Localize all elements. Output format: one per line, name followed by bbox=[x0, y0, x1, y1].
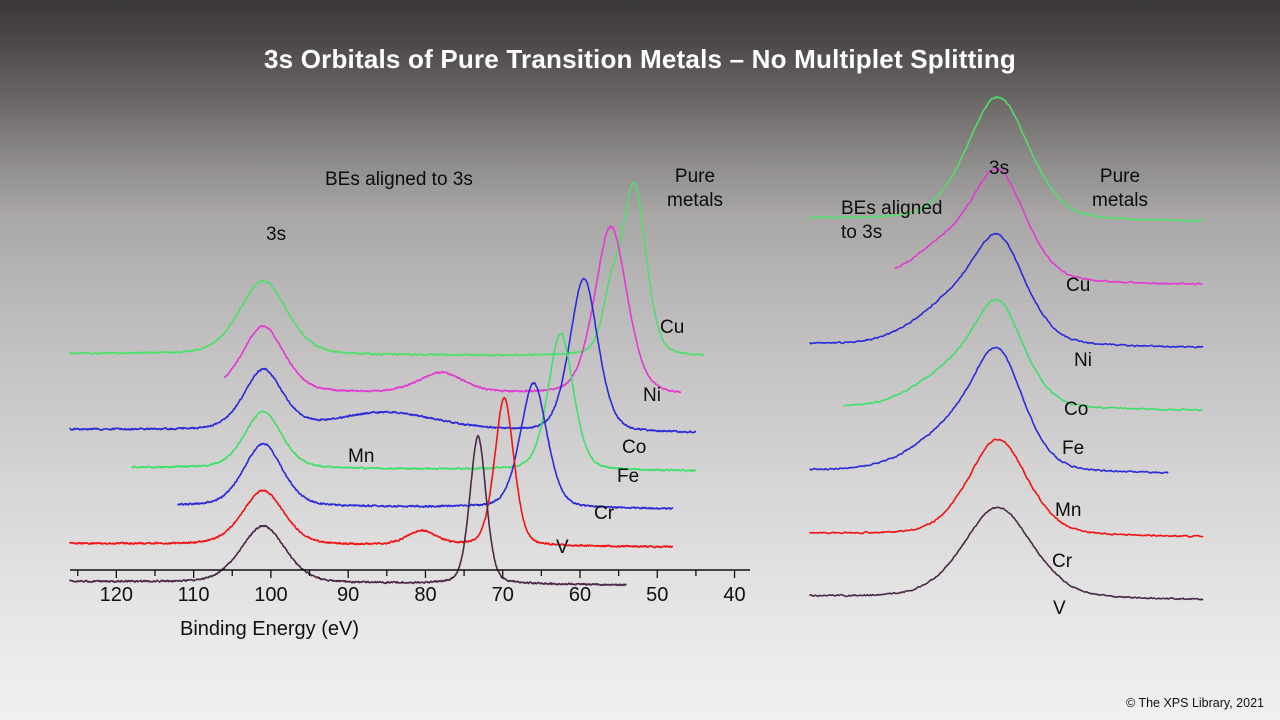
x-axis-tick-label-100: 100 bbox=[249, 584, 293, 607]
x-axis-tick-label-60: 60 bbox=[558, 584, 602, 607]
spectrum-curve-cu bbox=[70, 182, 703, 356]
x-axis-tick-label-50: 50 bbox=[635, 584, 679, 607]
right-element-label-fe: Fe bbox=[1062, 438, 1084, 460]
x-axis-tick-label-40: 40 bbox=[713, 584, 757, 607]
right-element-label-mn: Mn bbox=[1055, 500, 1081, 522]
spectrum-curve-mn bbox=[178, 383, 672, 509]
left-element-label-v: V bbox=[556, 537, 569, 559]
left-element-label-mn: Mn bbox=[348, 446, 374, 468]
slide-canvas: 3s Orbitals of Pure Transition Metals – … bbox=[0, 0, 1280, 720]
page-title: 3s Orbitals of Pure Transition Metals – … bbox=[0, 44, 1280, 75]
right-element-label-v: V bbox=[1053, 598, 1066, 620]
spectrum-curve-mn bbox=[810, 347, 1168, 473]
x-axis-tick-label-70: 70 bbox=[481, 584, 525, 607]
x-axis-tick-label-90: 90 bbox=[326, 584, 370, 607]
right-element-label-cu: Cu bbox=[1066, 275, 1090, 297]
x-axis-tick-label-110: 110 bbox=[172, 584, 216, 607]
spectrum-curve-cu bbox=[810, 97, 1203, 222]
x-axis-title: Binding Energy (eV) bbox=[180, 618, 359, 641]
left-element-label-cr: Cr bbox=[594, 503, 614, 525]
right-element-label-co: Co bbox=[1064, 399, 1088, 421]
x-axis-tick-label-120: 120 bbox=[94, 584, 138, 607]
spectrum-curve-co bbox=[810, 234, 1203, 348]
right-spectra-plot bbox=[810, 130, 1220, 630]
left-element-label-fe: Fe bbox=[617, 466, 639, 488]
spectrum-curve-ni bbox=[225, 226, 681, 392]
right-spectra-svg bbox=[810, 130, 1220, 630]
copyright-notice: © The XPS Library, 2021 bbox=[1126, 696, 1264, 710]
left-element-label-co: Co bbox=[622, 437, 646, 459]
left-element-label-ni: Ni bbox=[643, 385, 661, 407]
right-element-label-ni: Ni bbox=[1074, 350, 1092, 372]
left-element-label-cu: Cu bbox=[660, 317, 684, 339]
spectrum-curve-fe bbox=[844, 299, 1202, 410]
spectrum-curve-cr bbox=[810, 439, 1203, 537]
spectrum-curve-v bbox=[810, 507, 1203, 600]
x-axis-tick-label-80: 80 bbox=[403, 584, 447, 607]
spectrum-curve-cr bbox=[70, 398, 672, 548]
spectrum-curve-co bbox=[70, 278, 695, 432]
right-element-label-cr: Cr bbox=[1052, 551, 1072, 573]
